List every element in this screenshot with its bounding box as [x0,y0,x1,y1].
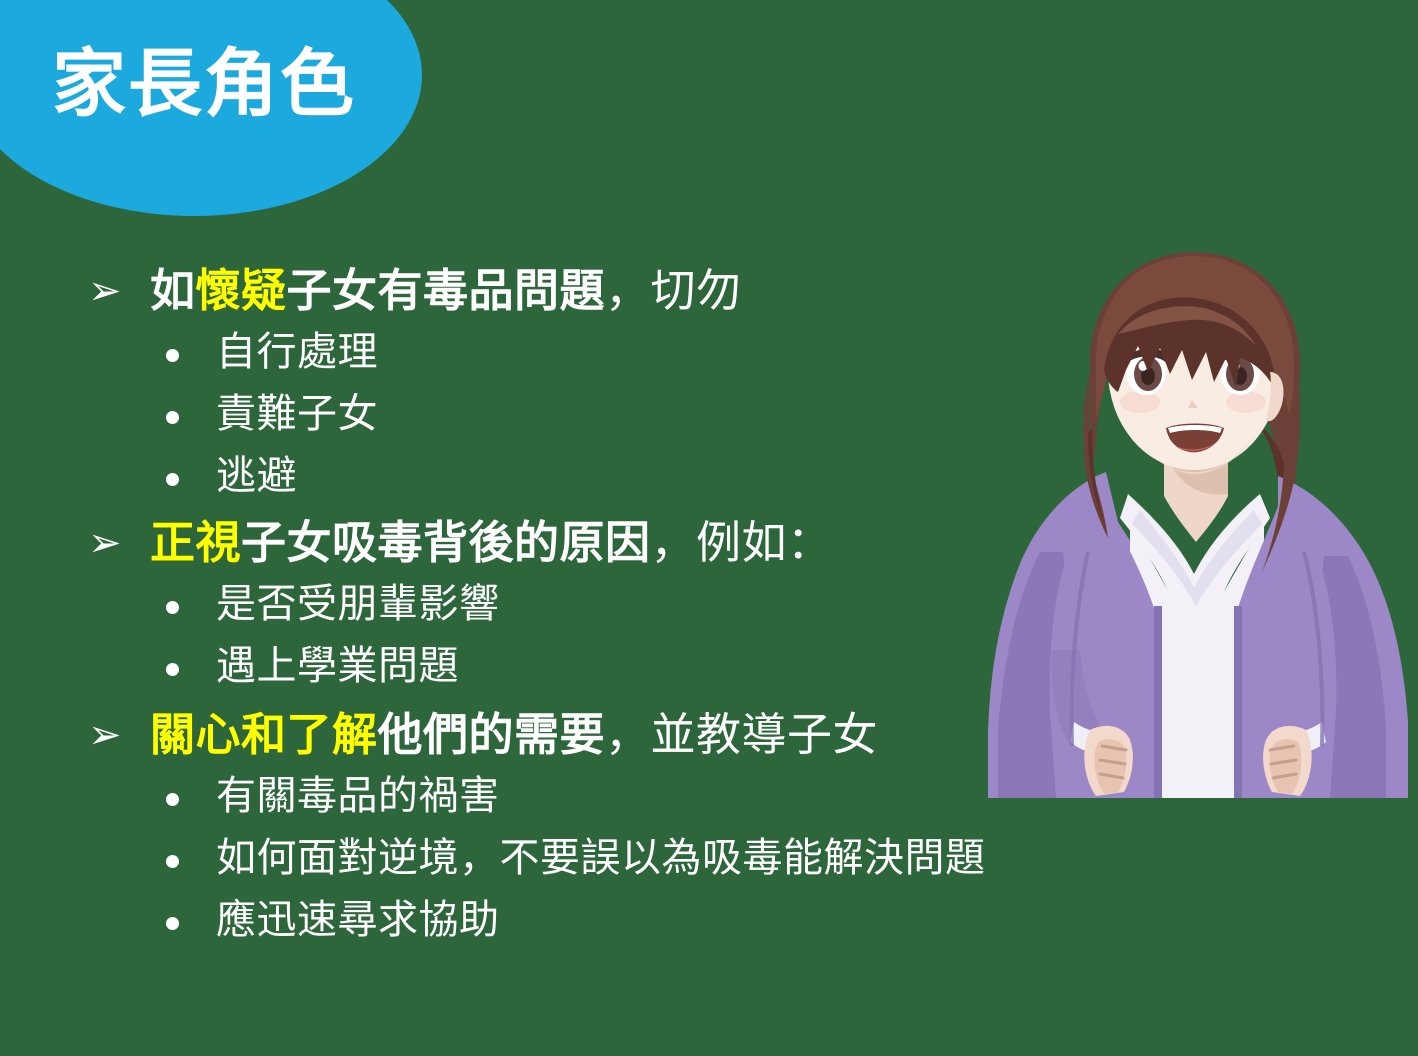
bullet-2-tail: ，例如： [651,516,833,569]
bullet-2-highlight: 正視 [150,516,241,569]
sub-bullet-1-3-text: 逃避 [216,448,297,504]
sub-bullet-1-1: 自行處理 [86,324,1046,380]
bullet-3-body: 他們的需要 [378,708,606,761]
arrow-bullet-icon: ➢ [86,706,150,764]
dot-bullet-icon [86,638,164,694]
bullet-1-body: 子女有毒品問題 [287,264,606,317]
slide-title: 家長角色 [52,41,356,127]
sub-bullet-3-1: 有關毒品的禍害 [86,768,1046,824]
bullet-level1-1-text: 如懷疑子女有毒品問題，切勿 [150,262,742,320]
arrow-bullet-icon: ➢ [86,262,150,320]
bullet-group-2: ➢ 正視子女吸毒背後的原因，例如： 是否受朋輩影響 遇上學業問題 [86,514,1046,694]
dot-bullet-icon [86,830,164,886]
dot-bullet-icon [86,892,164,948]
sub-bullet-2-1: 是否受朋輩影響 [86,576,1046,632]
bullet-group-1: ➢ 如懷疑子女有毒品問題，切勿 自行處理 責難子女 逃避 [86,262,1046,504]
sub-bullet-1-2: 責難子女 [86,386,1046,442]
bullet-1-tail: ，切勿 [605,264,742,317]
dot-bullet-icon [86,448,164,504]
bullet-level1-3-text: 關心和了解他們的需要，並教導子女 [150,706,878,764]
sub-bullet-2-1-text: 是否受朋輩影響 [216,576,500,632]
sub-bullet-1-1-text: 自行處理 [216,324,378,380]
arrow-bullet-icon: ➢ [86,514,150,572]
sub-bullet-3-3-text: 應迅速尋求協助 [216,892,500,948]
bullet-3-highlight: 關心和了解 [150,708,378,761]
sub-bullet-3-3: 應迅速尋求協助 [86,892,1046,948]
dot-bullet-icon [86,768,164,824]
sub-bullet-3-2: 如何面對逆境，不要誤以為吸毒能解決問題 [86,830,1046,886]
bullet-group-3: ➢ 關心和了解他們的需要，並教導子女 有關毒品的禍害 如何面對逆境，不要誤以為吸… [86,706,1046,948]
sub-bullet-3-1-text: 有關毒品的禍害 [216,768,500,824]
sub-bullet-1-3: 逃避 [86,448,1046,504]
bullet-2-body: 子女吸毒背後的原因 [241,516,651,569]
dot-bullet-icon [86,324,164,380]
bullet-content-block: ➢ 如懷疑子女有毒品問題，切勿 自行處理 責難子女 逃避 ➢ 正視子女吸毒背後的… [86,262,1046,958]
bullet-level1-3: ➢ 關心和了解他們的需要，並教導子女 [86,706,1046,764]
sub-bullet-1-2-text: 責難子女 [216,386,378,442]
dot-bullet-icon [86,576,164,632]
sub-bullet-2-2: 遇上學業問題 [86,638,1046,694]
sub-bullet-2-2-text: 遇上學業問題 [216,638,459,694]
slide-canvas: 家長角色 ➢ 如懷疑子女有毒品問題，切勿 自行處理 責難子女 逃避 [0,0,1418,1056]
bullet-level1-1: ➢ 如懷疑子女有毒品問題，切勿 [86,262,1046,320]
bullet-1-highlight: 懷疑 [196,264,287,317]
bullet-3-tail: ，並教導子女 [605,708,878,761]
bullet-1-lead-plain: 如 [150,264,196,317]
sub-bullet-3-2-text: 如何面對逆境，不要誤以為吸毒能解決問題 [216,830,986,886]
bullet-level1-2: ➢ 正視子女吸毒背後的原因，例如： [86,514,1046,572]
bullet-level1-2-text: 正視子女吸毒背後的原因，例如： [150,514,833,572]
dot-bullet-icon [86,386,164,442]
